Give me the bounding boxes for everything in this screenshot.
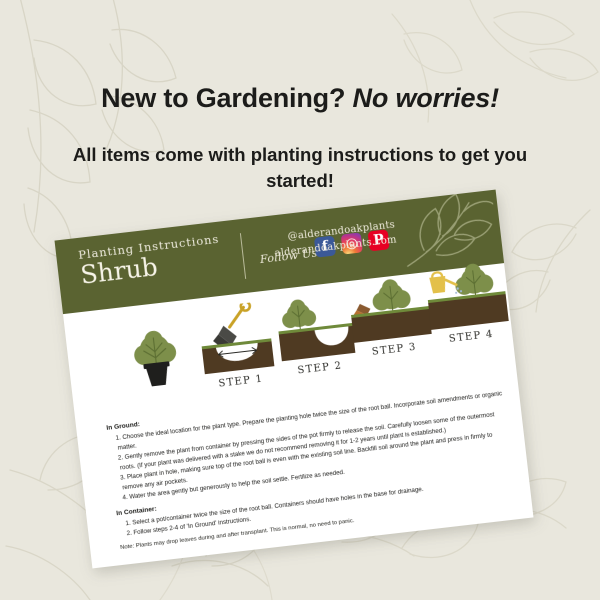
planting-with-trowel-icon: [345, 268, 435, 347]
headline-block: New to Gardening? No worries! All items …: [0, 82, 600, 193]
page-title: New to Gardening? No worries!: [0, 82, 600, 114]
step-3: STEP 3: [345, 268, 436, 360]
page-subtitle: All items come with planting instruction…: [0, 142, 600, 193]
step-4: STEP 4: [422, 255, 513, 347]
header-divider: [240, 233, 246, 279]
card-title-group: Planting Instructions Shrub: [78, 232, 223, 289]
shovel-digging-icon: [191, 300, 281, 379]
step-1: STEP 1: [191, 300, 282, 392]
headline-italic: No worries!: [353, 83, 499, 113]
planting-instruction-card: Planting Instructions Shrub Follow Us f …: [55, 190, 534, 569]
shrub-in-pot-icon: [111, 319, 201, 398]
headline-plain: New to Gardening?: [101, 83, 352, 113]
watering-can-icon: [422, 255, 512, 334]
potted-shrub-illustration: [111, 319, 201, 398]
